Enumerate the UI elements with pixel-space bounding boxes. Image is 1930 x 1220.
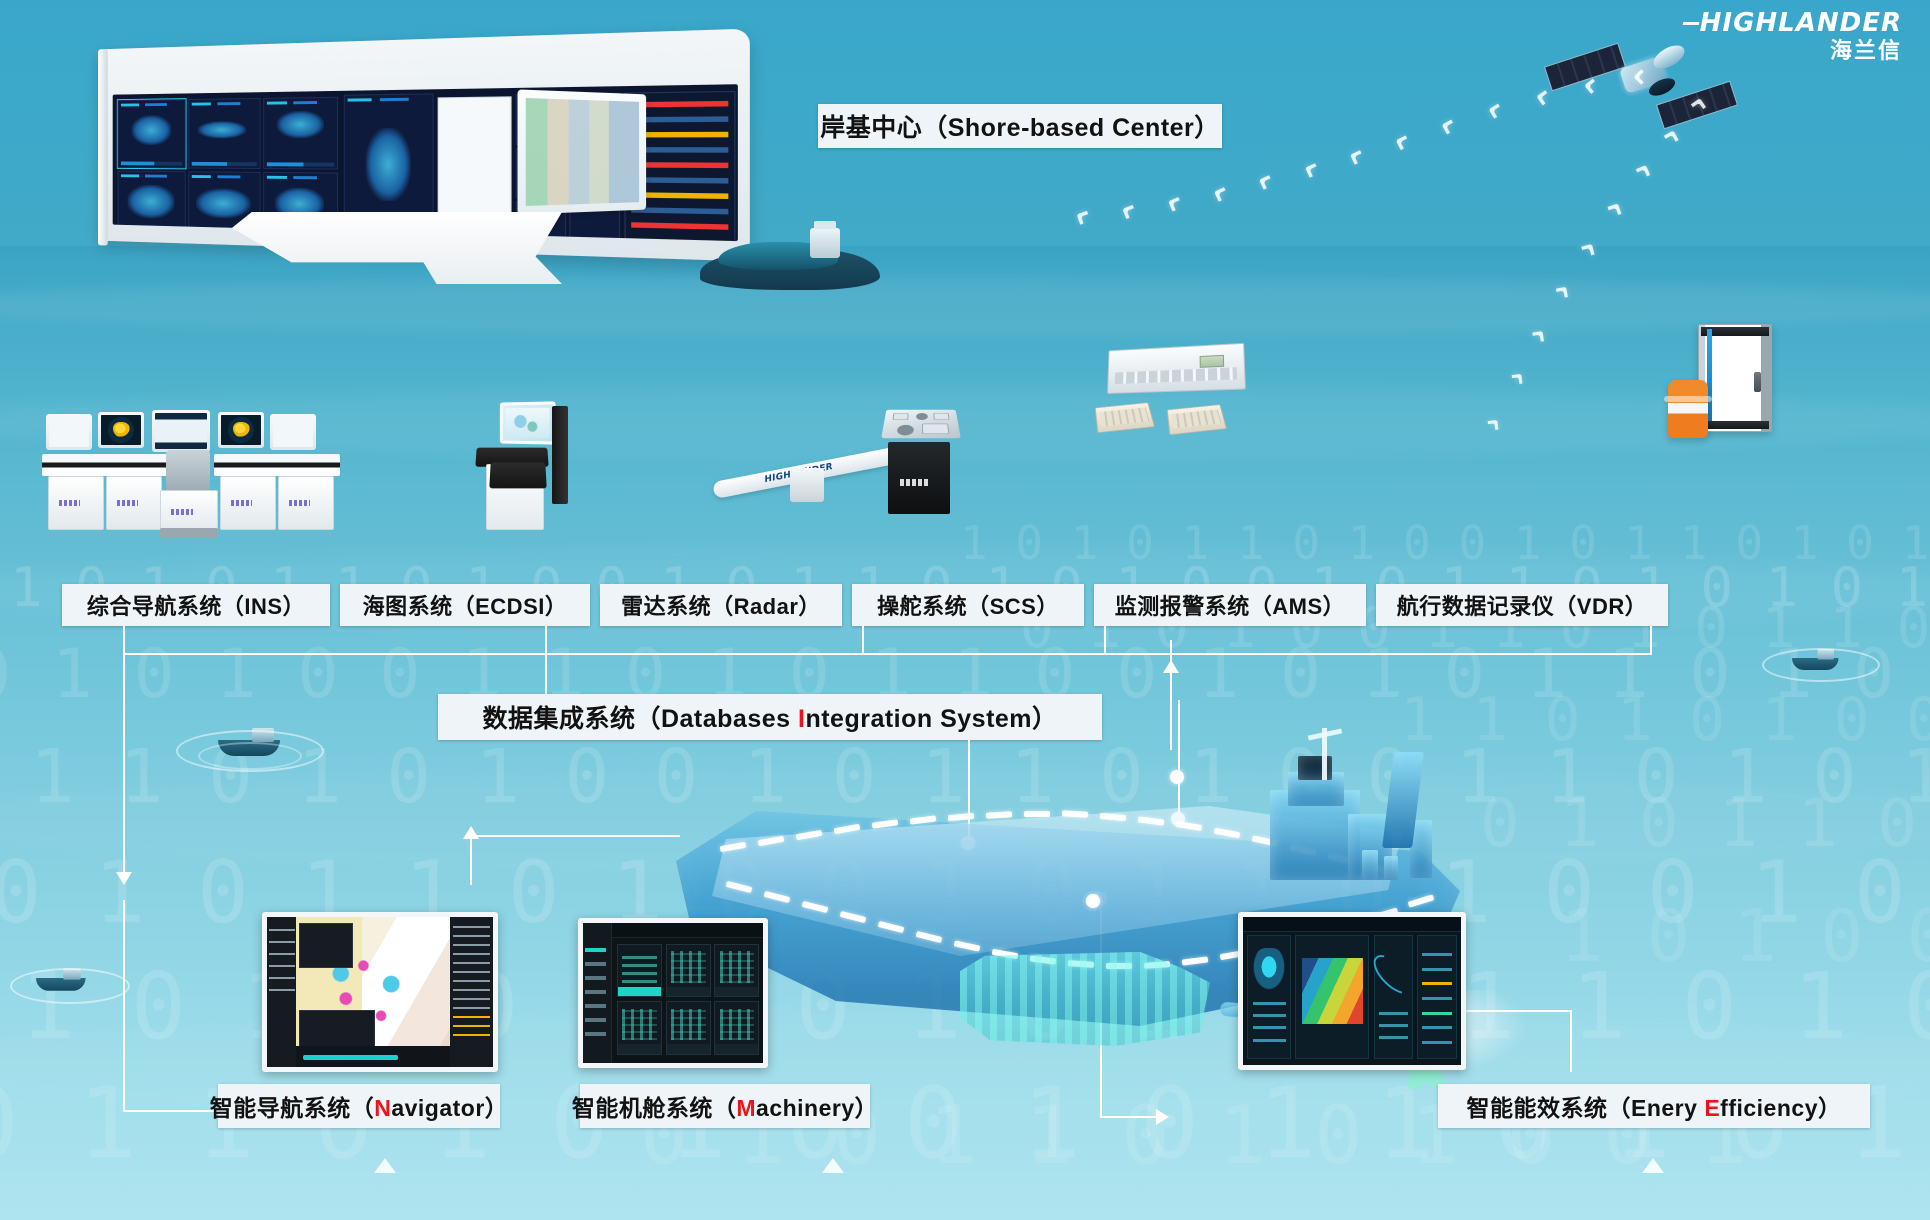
equipment-label-scs-text: 操舵系统（SCS） — [877, 589, 1059, 621]
brand-name-en: HIGHLANDER — [1683, 10, 1902, 36]
smart-system-label-efficiency-text: 智能能效系统（Enery Efficiency） — [1467, 1089, 1842, 1123]
ship-engine-room-highlight — [960, 950, 1210, 1046]
integration-label-text: 数据集成系统（Databases Integration System） — [482, 699, 1057, 735]
chart-kiosk-icon — [468, 402, 598, 534]
shore-center-label: 岸基中心（Shore-based Center） — [818, 104, 1222, 148]
boat-ripple — [1762, 648, 1880, 682]
smart-system-label-navigator-text: 智能导航系统（Navigator） — [210, 1089, 509, 1123]
radar-pedestal-icon — [790, 468, 824, 502]
equipment-label-vdr-text: 航行数据记录仪（VDR） — [1397, 589, 1647, 621]
ship-node-engine — [1086, 894, 1100, 908]
scroll-indicator-triangle — [1642, 1158, 1664, 1173]
smart-system-label-navigator[interactable]: 智能导航系统（Navigator） — [218, 1084, 500, 1128]
logo-dash-icon — [1682, 22, 1699, 25]
smart-system-label-machinery-text: 智能机舱系统（Machinery） — [572, 1089, 878, 1123]
equipment-label-vdr[interactable]: 航行数据记录仪（VDR） — [1376, 584, 1668, 626]
connector-arrow-up — [463, 826, 479, 839]
equipment-label-ams[interactable]: 监测报警系统（AMS） — [1094, 584, 1366, 626]
offshore-island — [700, 228, 890, 298]
ship-superstructure — [1270, 750, 1445, 900]
island-structure — [810, 228, 840, 258]
cctv-wall-panel — [518, 89, 647, 214]
infographic-canvas: 1 0 1 0 1 1 0 1 0 0 1 0 1 1 0 1 0 1 0 0 … — [0, 0, 1930, 1220]
equipment-label-radar-text: 雷达系统（Radar） — [621, 589, 821, 621]
vdr-capsule-icon — [1668, 380, 1708, 438]
navigation-console-icon — [42, 408, 342, 538]
dashboard-panel — [118, 99, 186, 168]
equipment-label-ins-text: 综合导航系统（INS） — [87, 589, 305, 621]
alarm-module-icon — [1090, 346, 1280, 456]
connector-arrow-down — [116, 872, 132, 885]
steering-console-body — [888, 442, 950, 514]
boat-ripple — [10, 968, 130, 1004]
connector-arrow-up — [1163, 660, 1179, 673]
equipment-label-scs[interactable]: 操舵系统（SCS） — [852, 584, 1084, 626]
equipment-label-ecdis[interactable]: 海图系统（ECDSI） — [340, 584, 590, 626]
scroll-indicator-triangle — [374, 1158, 396, 1173]
smart-system-label-efficiency[interactable]: 智能能效系统（Enery Efficiency） — [1438, 1084, 1870, 1128]
video-wall-frame — [98, 49, 108, 245]
vdr-cabinet-icon — [1650, 324, 1810, 464]
steering-console-icon — [866, 400, 996, 540]
machinery-screenshot[interactable] — [578, 918, 768, 1068]
equipment-label-ins[interactable]: 综合导航系统（INS） — [62, 584, 330, 626]
ship-node-bridge — [1170, 770, 1184, 784]
scroll-indicator-triangle — [822, 1158, 844, 1173]
energy-efficiency-screenshot[interactable] — [1238, 912, 1466, 1070]
dashboard-panel — [189, 98, 261, 169]
boat-ripple — [198, 742, 302, 770]
dashboard-panel — [118, 170, 186, 239]
equipment-label-ams-text: 监测报警系统（AMS） — [1115, 589, 1345, 621]
navigator-screenshot[interactable] — [262, 912, 498, 1072]
smart-system-label-machinery[interactable]: 智能机舱系统（Machinery） — [580, 1084, 870, 1128]
shore-based-center-visual — [62, 40, 762, 270]
equipment-label-ecdis-text: 海图系统（ECDSI） — [363, 589, 568, 621]
integration-system-label[interactable]: 数据集成系统（Databases Integration System） — [438, 694, 1102, 740]
equipment-label-radar[interactable]: 雷达系统（Radar） — [600, 584, 842, 626]
ship-mast — [1322, 728, 1327, 780]
dashboard-panel — [263, 97, 338, 169]
shore-center-label-text: 岸基中心（Shore-based Center） — [820, 108, 1220, 144]
